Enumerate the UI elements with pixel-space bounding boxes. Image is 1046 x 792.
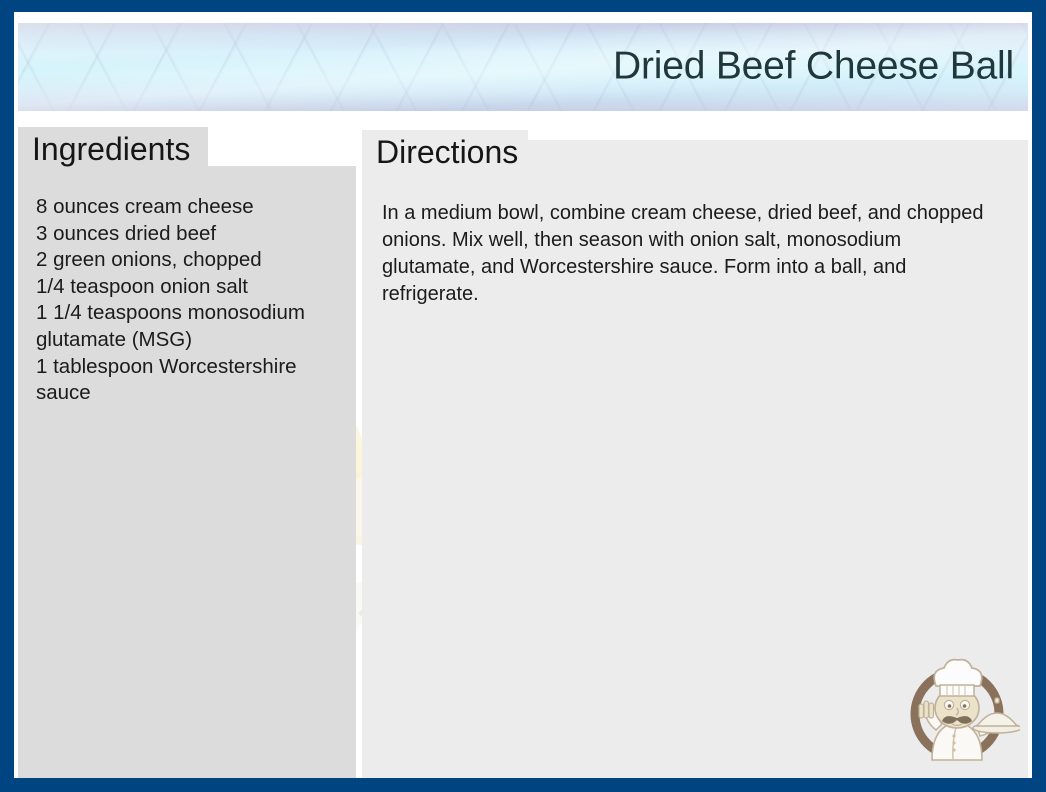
ingredients-heading-label: Ingredients: [32, 133, 190, 165]
list-item: 3 ounces dried beef: [36, 221, 348, 248]
chef-with-cloche-logo: [902, 648, 1020, 764]
page-title: Dried Beef Cheese Ball: [613, 47, 1014, 88]
list-item: 8 ounces cream cheese: [36, 194, 348, 221]
recipe-slide: Dried Beef Cheese Ball: [0, 0, 1046, 792]
directions-body-text: In a medium bowl, combine cream cheese, …: [382, 200, 998, 308]
ingredients-list: 8 ounces cream cheese 3 ounces dried bee…: [36, 194, 348, 407]
slide-inner-frame: Dried Beef Cheese Ball: [14, 12, 1032, 778]
list-item: 2 green onions, chopped: [36, 247, 348, 274]
directions-header: Directions: [362, 130, 528, 174]
list-item: 1 1/4 teaspoons monosodium glutamate (MS…: [36, 300, 348, 353]
title-banner: Dried Beef Cheese Ball: [18, 23, 1028, 111]
directions-heading-label: Directions: [376, 136, 518, 168]
ingredients-header: Ingredients: [18, 127, 208, 171]
list-item: 1/4 teaspoon onion salt: [36, 274, 348, 301]
list-item: 1 tablespoon Worcestershire sauce: [36, 354, 348, 407]
